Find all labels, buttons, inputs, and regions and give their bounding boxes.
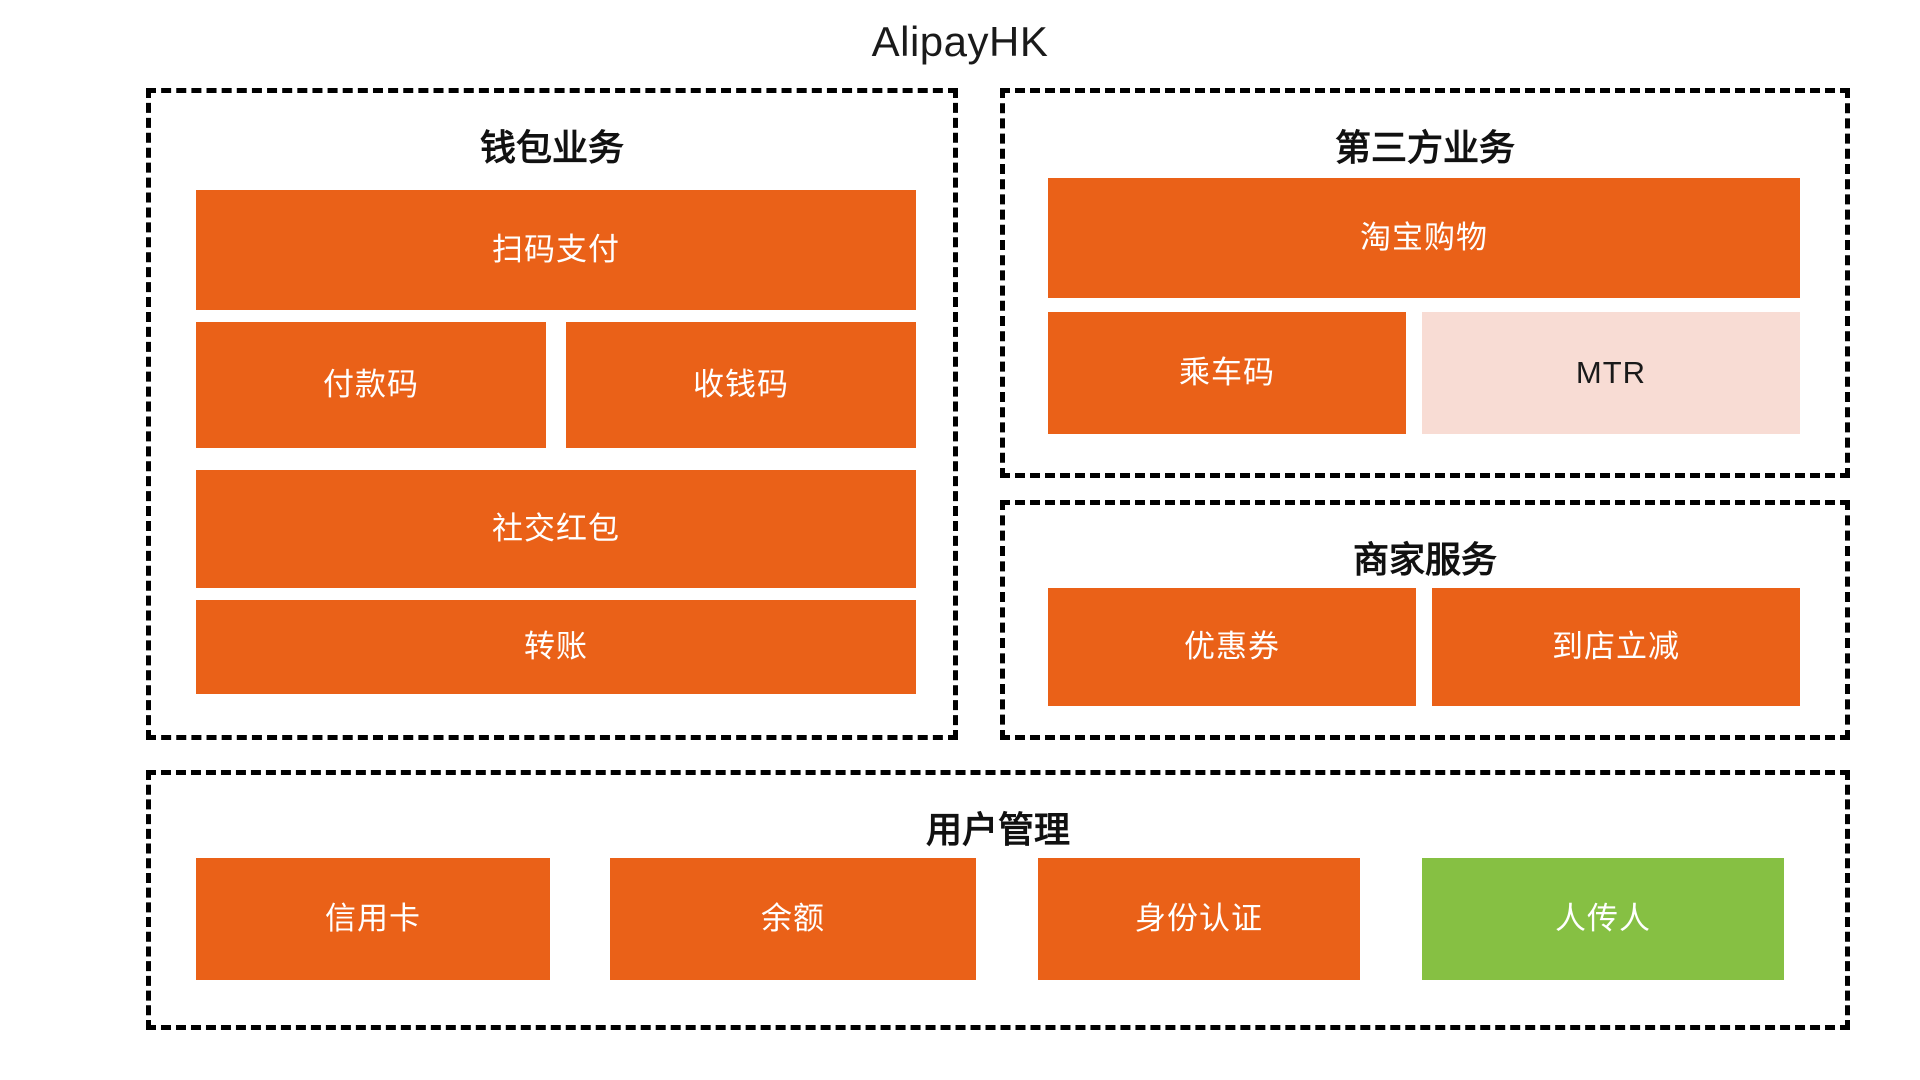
box-collect-money-code[interactable]: 收钱码 bbox=[566, 322, 916, 448]
box-credit-card[interactable]: 信用卡 bbox=[196, 858, 550, 980]
box-social-red-packet[interactable]: 社交红包 bbox=[196, 470, 916, 588]
box-taobao-shopping[interactable]: 淘宝购物 bbox=[1048, 178, 1800, 298]
box-identity-verification[interactable]: 身份认证 bbox=[1038, 858, 1360, 980]
page-title: AlipayHK bbox=[0, 18, 1920, 66]
group-title-user-management: 用户管理 bbox=[151, 801, 1845, 853]
box-person-to-person[interactable]: 人传人 bbox=[1422, 858, 1784, 980]
box-in-store-discount[interactable]: 到店立减 bbox=[1432, 588, 1800, 706]
group-title-third-party-business: 第三方业务 bbox=[1005, 119, 1845, 171]
box-transit-code[interactable]: 乘车码 bbox=[1048, 312, 1406, 434]
box-balance[interactable]: 余额 bbox=[610, 858, 976, 980]
box-transfer[interactable]: 转账 bbox=[196, 600, 916, 694]
diagram-canvas: AlipayHK 钱包业务 扫码支付 付款码 收钱码 社交红包 转账 第三方业务… bbox=[0, 0, 1920, 1080]
group-title-wallet-business: 钱包业务 bbox=[151, 119, 953, 171]
box-payment-code[interactable]: 付款码 bbox=[196, 322, 546, 448]
box-coupon[interactable]: 优惠券 bbox=[1048, 588, 1416, 706]
box-mtr[interactable]: MTR bbox=[1422, 312, 1800, 434]
box-scan-code-payment[interactable]: 扫码支付 bbox=[196, 190, 916, 310]
group-title-merchant-services: 商家服务 bbox=[1005, 531, 1845, 583]
